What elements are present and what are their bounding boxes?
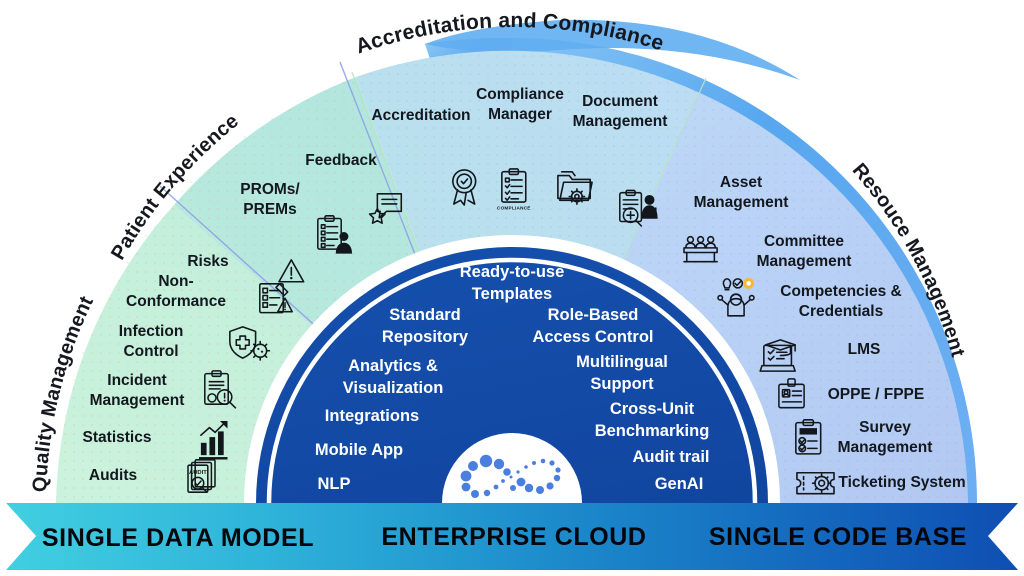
item-label-survey-2: Management <box>838 439 933 456</box>
core-label-rbac-1: Role-Based <box>548 306 639 324</box>
item-label-proms-2: PREMs <box>243 201 296 218</box>
item-label-accreditation: Accreditation <box>371 107 470 124</box>
core-label-analytics-2: Visualization <box>343 379 444 397</box>
item-label-compliance-1: Compliance <box>476 86 564 103</box>
item-label-non-conformance-1: Non- <box>158 273 193 290</box>
core-label-genai: GenAI <box>655 475 704 493</box>
item-label-asset-2: Management <box>694 194 789 211</box>
item-label-incident-2: Management <box>90 392 185 409</box>
svg-text:COMPLIANCE: COMPLIANCE <box>497 205 531 210</box>
item-label-compliance-2: Manager <box>488 106 552 123</box>
item-label-committee-1: Committee <box>764 233 844 250</box>
item-label-lms: LMS <box>848 341 881 358</box>
core-label-analytics-1: Analytics & <box>348 357 438 375</box>
core-label-multilingual-2: Support <box>590 375 654 393</box>
core-label-nlp: NLP <box>318 475 351 493</box>
infographic-canvas: Quality Management Patient Experience Ac… <box>0 0 1024 576</box>
core-label-repository-2: Repository <box>382 328 469 346</box>
item-label-infection-2: Control <box>123 343 178 360</box>
ribbon-label-enterprise-cloud: ENTERPRISE CLOUD <box>381 523 646 551</box>
core-label-mobile-app: Mobile App <box>315 441 403 459</box>
ribbon-label-single-data-model: SINGLE DATA MODEL <box>42 524 314 552</box>
item-label-competencies-2: Credentials <box>799 303 883 320</box>
bottom-ribbon: SINGLE DATA MODEL ENTERPRISE CLOUD SINGL… <box>6 503 1018 570</box>
item-label-incident-1: Incident <box>107 372 166 389</box>
svg-text:AUDIT: AUDIT <box>189 470 207 476</box>
item-label-document-1: Document <box>582 93 658 110</box>
audit-document-icon: AUDIT <box>188 460 215 492</box>
item-label-infection-1: Infection <box>119 323 184 340</box>
item-label-competencies-1: Competencies & <box>780 283 901 300</box>
core-label-audit-trail: Audit trail <box>633 448 710 466</box>
item-label-committee-2: Management <box>757 253 852 270</box>
item-label-proms-1: PROMs/ <box>240 181 300 198</box>
core-label-crossunit-1: Cross-Unit <box>610 400 695 418</box>
core-label-integrations: Integrations <box>325 407 419 425</box>
item-label-oppe-fppe: OPPE / FPPE <box>828 386 924 403</box>
item-label-non-conformance-2: Conformance <box>126 293 226 310</box>
core-label-multilingual-1: Multilingual <box>576 353 668 371</box>
item-label-feedback: Feedback <box>305 152 377 169</box>
item-label-document-2: Management <box>573 113 668 130</box>
item-label-ticketing: Ticketing System <box>838 474 965 491</box>
item-label-risks: Risks <box>187 253 228 270</box>
core-label-templates-2: Templates <box>472 285 552 303</box>
item-label-asset-1: Asset <box>720 174 762 191</box>
item-label-statistics: Statistics <box>83 429 152 446</box>
core-label-rbac-2: Access Control <box>532 328 653 346</box>
item-label-audits: Audits <box>89 467 137 484</box>
item-label-survey-1: Survey <box>859 419 911 436</box>
ribbon-label-single-code-base: SINGLE CODE BASE <box>709 523 967 551</box>
core-label-crossunit-2: Benchmarking <box>595 422 710 440</box>
core-label-templates-1: Ready-to-use <box>460 263 565 281</box>
core-label-repository-1: Standard <box>389 306 461 324</box>
architecture-diagram: Quality Management Patient Experience Ac… <box>0 0 1024 576</box>
